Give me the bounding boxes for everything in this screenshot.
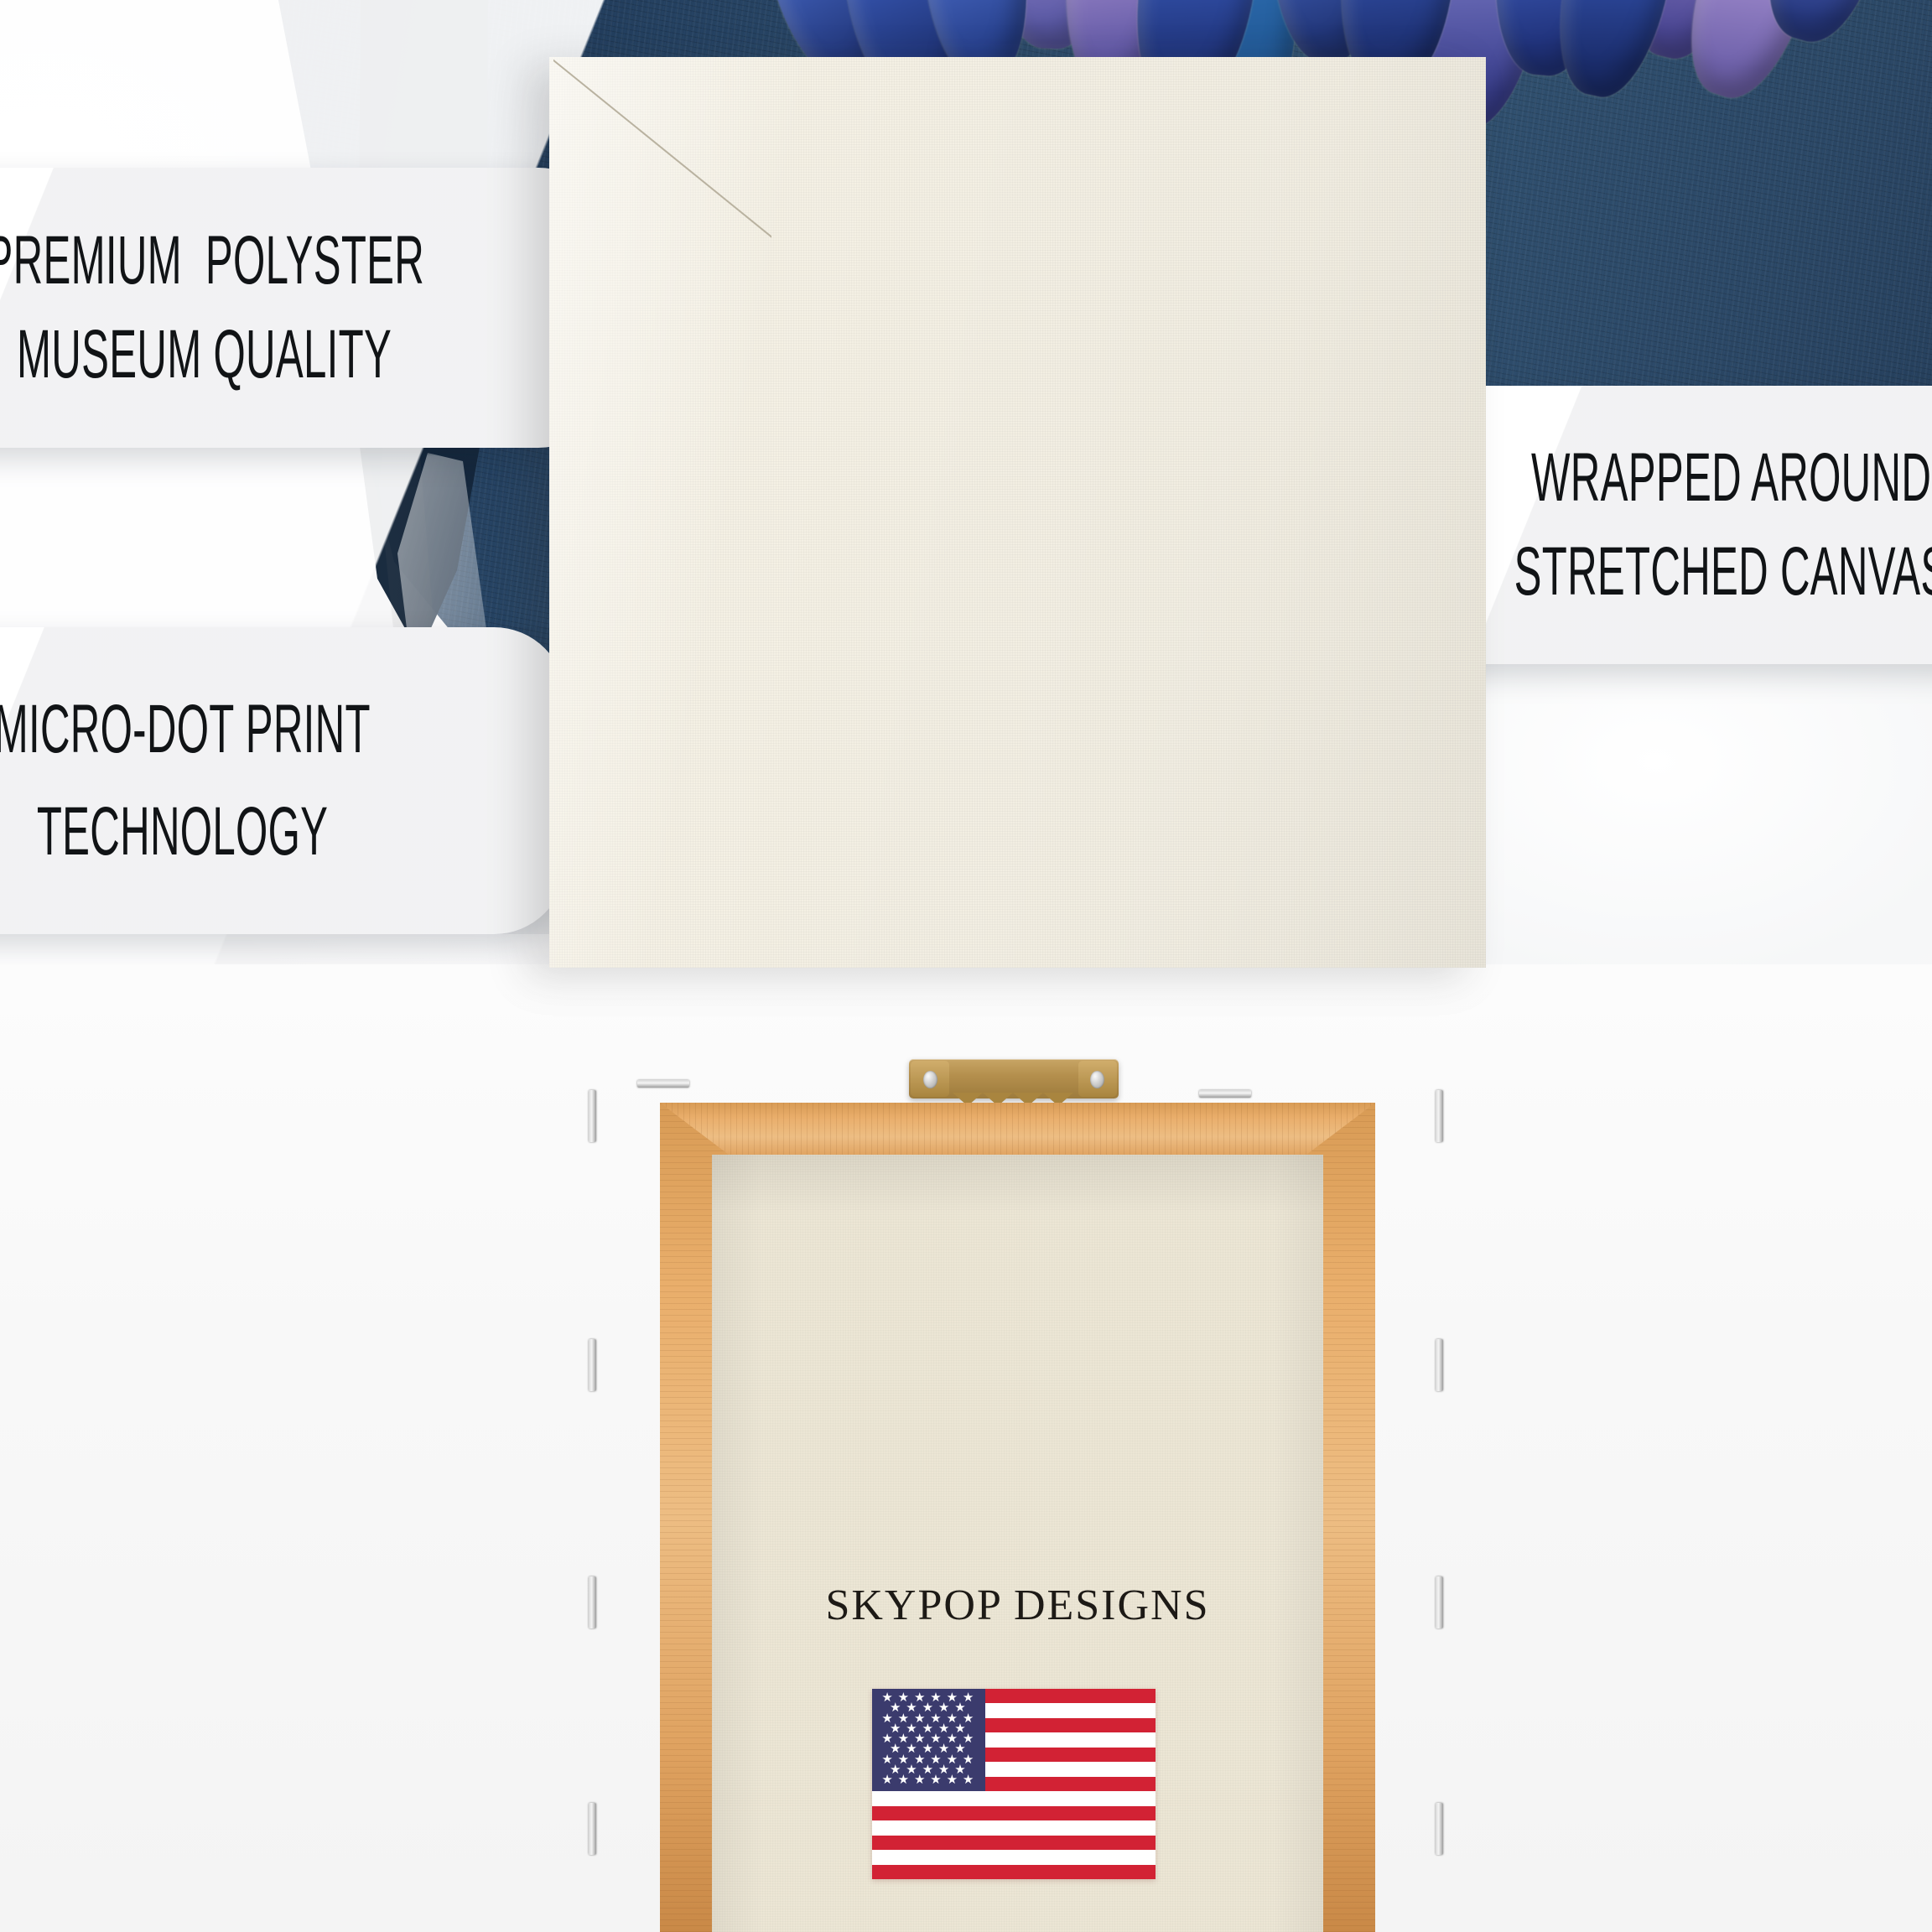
product-infographic: PREMIUM POLYSTER MUSEUM QUALITY WRAPPED … xyxy=(0,0,1932,1932)
sawtooth-hanger-icon xyxy=(909,1059,1119,1106)
canvas-staple xyxy=(1436,1576,1443,1628)
canvas-staple xyxy=(589,1339,596,1391)
flag-stripe xyxy=(872,1836,1156,1851)
flag-star: ★ xyxy=(963,1774,974,1786)
us-flag-icon: ★★★★★★★★★★★★★★★★★★★★★★★★★★★★★★★★★★★★★★★★… xyxy=(872,1689,1156,1879)
callout-premium-polyster: PREMIUM POLYSTER MUSEUM QUALITY xyxy=(0,168,610,448)
callout-line-1: PREMIUM POLYSTER xyxy=(0,214,424,308)
canvas-staple xyxy=(1199,1090,1251,1098)
canvas-staple xyxy=(1436,1803,1443,1855)
canvas-staple xyxy=(589,1803,596,1855)
flag-star: ★ xyxy=(898,1774,909,1786)
callout-micro-dot-print: MICRO-DOT PRINT TECHNOLOGY xyxy=(0,627,566,934)
flag-stripe xyxy=(872,1791,1156,1806)
hanger-screw-right xyxy=(1090,1071,1104,1088)
flag-star: ★ xyxy=(881,1774,892,1786)
callout-line-1: MICRO-DOT PRINT xyxy=(0,678,371,781)
flag-star: ★ xyxy=(914,1774,925,1786)
flag-stripe xyxy=(872,1806,1156,1821)
flag-star: ★ xyxy=(947,1774,958,1786)
canvas-staple xyxy=(637,1080,689,1088)
canvas-staple xyxy=(1436,1090,1443,1142)
flag-stripe xyxy=(872,1820,1156,1836)
callout-line-2: MUSEUM QUALITY xyxy=(17,308,392,402)
flag-canton: ★★★★★★★★★★★★★★★★★★★★★★★★★★★★★★★★★★★★★★★★… xyxy=(872,1689,985,1791)
canvas-staple xyxy=(589,1090,596,1142)
canvas-miter-seam xyxy=(553,59,771,277)
canvas-staple xyxy=(589,1576,596,1628)
hanger-screw-left xyxy=(923,1071,937,1088)
flag-stripe xyxy=(872,1865,1156,1879)
brand-logo-text: SKYPOP DESIGNS xyxy=(712,1581,1323,1630)
flag-stripe xyxy=(872,1850,1156,1865)
callout-line-2: TECHNOLOGY xyxy=(37,781,328,883)
canvas-staple xyxy=(1436,1339,1443,1391)
callout-line-1: WRAPPED AROUND xyxy=(1531,431,1931,525)
flag-star: ★ xyxy=(930,1774,941,1786)
callout-line-2: STRETCHED CANVAS xyxy=(1514,525,1932,619)
